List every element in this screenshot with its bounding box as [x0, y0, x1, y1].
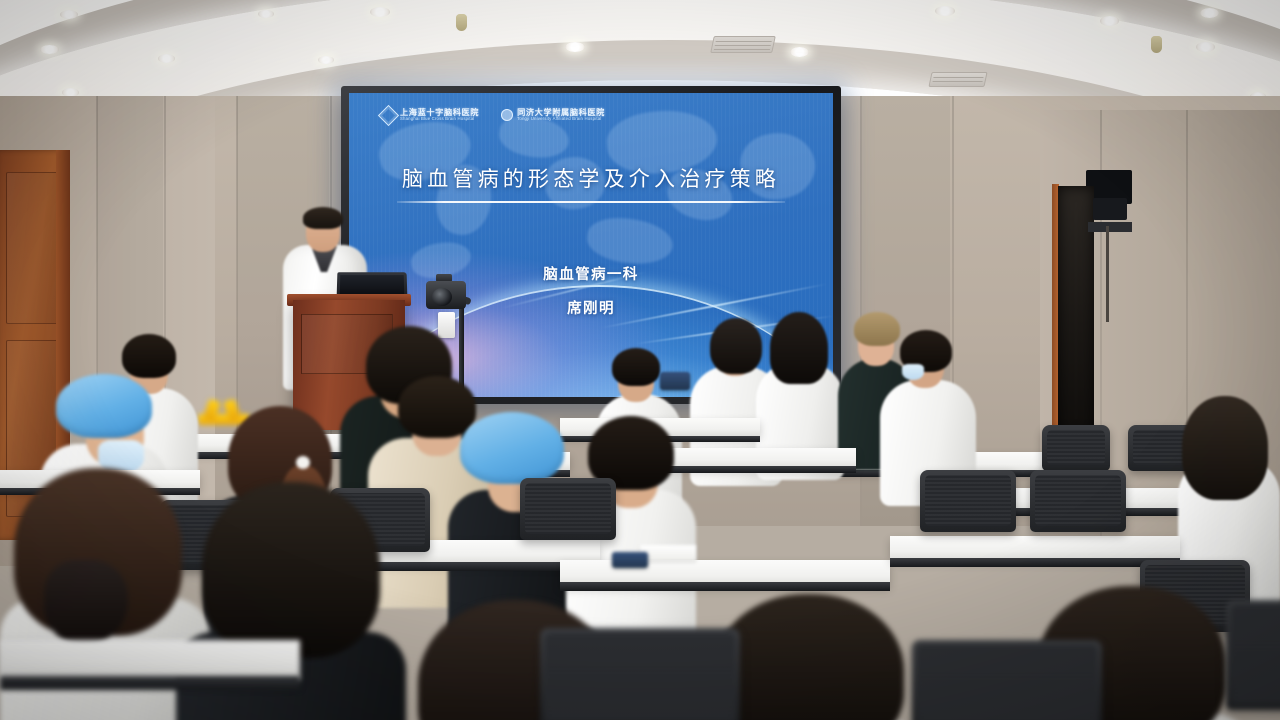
tripod-label-tag — [438, 312, 455, 338]
desk — [890, 536, 1180, 560]
camera-lens-icon — [432, 288, 452, 306]
chair[interactable] — [920, 470, 1016, 532]
chair[interactable] — [912, 640, 1102, 720]
corner-av-box — [1093, 198, 1127, 220]
desk — [0, 640, 300, 680]
paper-handout[interactable] — [640, 545, 696, 561]
chair[interactable] — [520, 478, 616, 540]
mic-pole — [1106, 226, 1109, 322]
smartphone[interactable] — [660, 372, 690, 390]
chair[interactable] — [1042, 425, 1110, 471]
chair[interactable] — [540, 628, 740, 720]
smartphone[interactable] — [612, 552, 648, 568]
conference-hall-photo: 上海蓝十字脑科医院 Shanghai Blue Cross Brain Hosp… — [0, 0, 1280, 720]
chair[interactable] — [1030, 470, 1126, 532]
chair[interactable] — [1226, 600, 1280, 710]
